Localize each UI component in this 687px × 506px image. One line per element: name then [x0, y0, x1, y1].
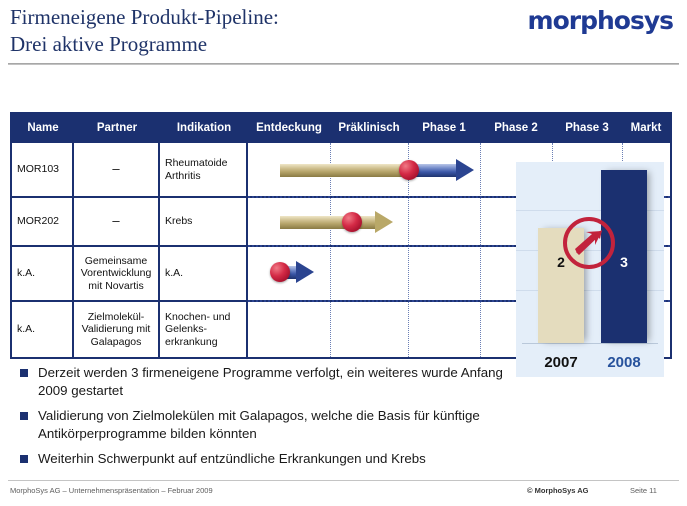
header-divider [8, 63, 679, 65]
arrow-head-icon [296, 261, 314, 283]
arrow-head-icon [456, 159, 474, 181]
bullet-text: Weiterhin Schwerpunkt auf entzündliche E… [38, 451, 426, 466]
arrow-segment-discovery [280, 164, 410, 177]
cell-indication: Krebs [160, 198, 248, 245]
cell-name: MOR202 [12, 198, 74, 245]
cell-name: k.A. [12, 302, 74, 357]
programs-bar-chart: 2 3 2007 2008 [516, 162, 664, 377]
progress-arrow-mor202 [280, 213, 410, 231]
slide-header: Firmeneigene Produkt-Pipeline: Drei akti… [0, 0, 687, 66]
progress-arrow-mor103 [280, 161, 480, 179]
cell-partner: Zielmolekül-Validierung mit Galapagos [74, 302, 160, 357]
cell-partner: Gemeinsame Vorentwicklung mit Novartis [74, 247, 160, 300]
bullet-square-icon [20, 412, 28, 420]
growth-arrow-icon [563, 217, 615, 269]
list-item: Weiterhin Schwerpunkt auf entzündliche E… [12, 450, 532, 468]
column-header-indikation: Indikation [160, 114, 248, 143]
cell-partner: – [74, 198, 160, 245]
column-header-markt: Markt [622, 114, 670, 143]
bullet-text: Validierung von Zielmolekülen mit Galapa… [38, 408, 480, 441]
footer-copyright: © MorphoSys AG [527, 486, 589, 495]
bullet-square-icon [20, 455, 28, 463]
list-item: Validierung von Zielmolekülen mit Galapa… [12, 407, 532, 443]
cell-name: MOR103 [12, 143, 74, 196]
chart-label-2007: 2007 [532, 354, 590, 371]
stage-marker-icon [342, 212, 362, 232]
cell-indication: k.A. [160, 247, 248, 300]
chart-baseline [522, 343, 658, 344]
column-header-phase-2: Phase 2 [480, 114, 552, 143]
page-title: Firmeneigene Produkt-Pipeline: Drei akti… [10, 4, 279, 58]
column-header-phase-3: Phase 3 [552, 114, 622, 143]
bullet-list: Derzeit werden 3 firmeneigene Programme … [12, 364, 532, 475]
column-header-name: Name [12, 114, 74, 143]
column-header-partner: Partner [74, 114, 160, 143]
list-item: Derzeit werden 3 firmeneigene Programme … [12, 364, 532, 400]
stage-marker-icon [399, 160, 419, 180]
column-header-entdeckung: Entdeckung [248, 114, 330, 143]
cell-name: k.A. [12, 247, 74, 300]
bullet-square-icon [20, 369, 28, 377]
cell-indication: Rheumatoide Arthritis [160, 143, 248, 196]
arrow-head-icon [375, 211, 393, 233]
morphosys-logo: morphosys [528, 6, 673, 35]
stage-marker-icon [270, 262, 290, 282]
footer-page-number: Seite 11 [630, 486, 657, 495]
arrow-segment-discovery [280, 216, 377, 229]
table-header-row: Name Partner Indikation Entdeckung Präkl… [12, 114, 670, 143]
chart-label-2008: 2008 [595, 354, 653, 371]
progress-arrow-novartis [270, 263, 340, 281]
column-header-phase-1: Phase 1 [408, 114, 480, 143]
cell-indication: Knochen- und Gelenks-erkrankung [160, 302, 248, 357]
footer-left-text: MorphoSys AG – Unternehmenspräsentation … [10, 486, 213, 495]
bullet-text: Derzeit werden 3 firmeneigene Programme … [38, 365, 503, 398]
footer-divider [8, 480, 679, 481]
cell-partner: – [74, 143, 160, 196]
column-header-praeklinisch: Präklinisch [330, 114, 408, 143]
